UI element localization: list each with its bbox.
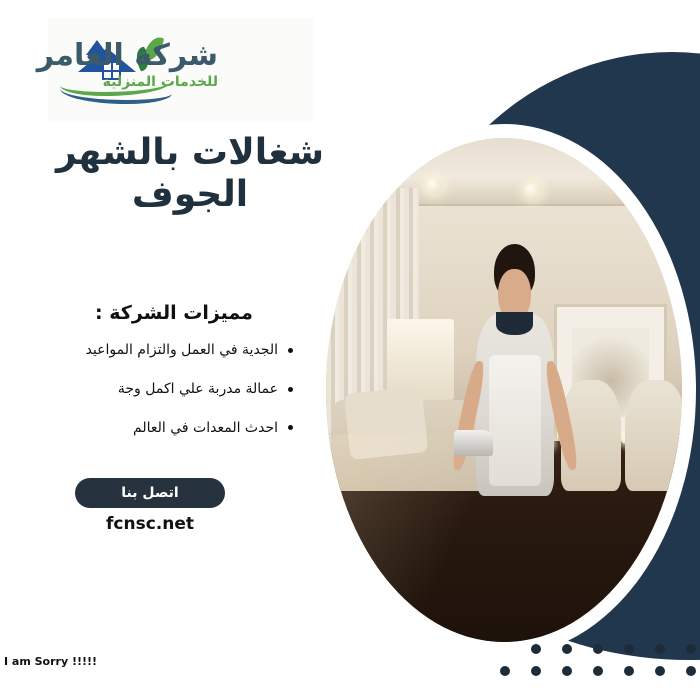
dot bbox=[624, 666, 634, 676]
dot bbox=[500, 666, 510, 676]
contact-us-label: اتصل بنا bbox=[121, 485, 178, 501]
logo-subtitle: للخدمات المنزلية bbox=[50, 74, 218, 90]
bullet-icon bbox=[288, 348, 293, 353]
bullet-icon bbox=[288, 387, 293, 392]
watermark-text: I am Sorry !!!!! bbox=[4, 655, 97, 668]
features-title: مميزات الشركة : bbox=[55, 302, 293, 324]
contact-us-button[interactable]: اتصل بنا bbox=[75, 478, 225, 508]
dot bbox=[562, 666, 572, 676]
dot bbox=[562, 644, 572, 654]
logo-row: شركة العامر للخدمات المنزلية bbox=[48, 18, 314, 122]
dot bbox=[593, 644, 603, 654]
dot bbox=[624, 644, 634, 654]
dot-row bbox=[500, 666, 696, 676]
dot-row bbox=[500, 644, 696, 654]
list-item: الجدية في العمل والتزام المواعيد bbox=[55, 342, 293, 359]
feature-text: عمالة مدربة علي اكمل وجة bbox=[118, 381, 278, 398]
headline-line-1: شغالات بالشهر bbox=[40, 132, 340, 174]
iron-icon bbox=[454, 430, 493, 455]
dot bbox=[655, 644, 665, 654]
dot bbox=[531, 666, 541, 676]
dot bbox=[593, 666, 603, 676]
website-url[interactable]: fcnsc.net bbox=[75, 514, 225, 534]
feature-text: الجدية في العمل والتزام المواعيد bbox=[86, 342, 278, 359]
dot bbox=[531, 644, 541, 654]
headline-line-2: الجوف bbox=[40, 174, 340, 216]
dot bbox=[655, 666, 665, 676]
company-logo: شركة العامر للخدمات المنزلية bbox=[48, 18, 314, 122]
dot-grid-decoration bbox=[500, 644, 696, 688]
logo-title: شركة العامر bbox=[50, 40, 218, 72]
page-title: شغالات بالشهر الجوف bbox=[40, 132, 340, 217]
dot bbox=[686, 666, 696, 676]
features-section: مميزات الشركة : الجدية في العمل والتزام … bbox=[55, 302, 293, 458]
ceiling-light-icon bbox=[426, 178, 442, 194]
list-item: احدث المعدات في العالم bbox=[55, 420, 293, 437]
photo-interior-scene bbox=[326, 138, 682, 642]
logo-text: شركة العامر للخدمات المنزلية bbox=[50, 40, 218, 90]
dot bbox=[686, 644, 696, 654]
list-item: عمالة مدربة علي اكمل وجة bbox=[55, 381, 293, 398]
figure-collar bbox=[496, 312, 533, 335]
feature-text: احدث المعدات في العالم bbox=[133, 420, 278, 437]
table-sheen bbox=[326, 435, 682, 642]
bullet-icon bbox=[288, 425, 293, 430]
poster-canvas: شركة العامر للخدمات المنزلية شغالات بالش… bbox=[0, 0, 700, 700]
hero-photo bbox=[326, 138, 682, 642]
